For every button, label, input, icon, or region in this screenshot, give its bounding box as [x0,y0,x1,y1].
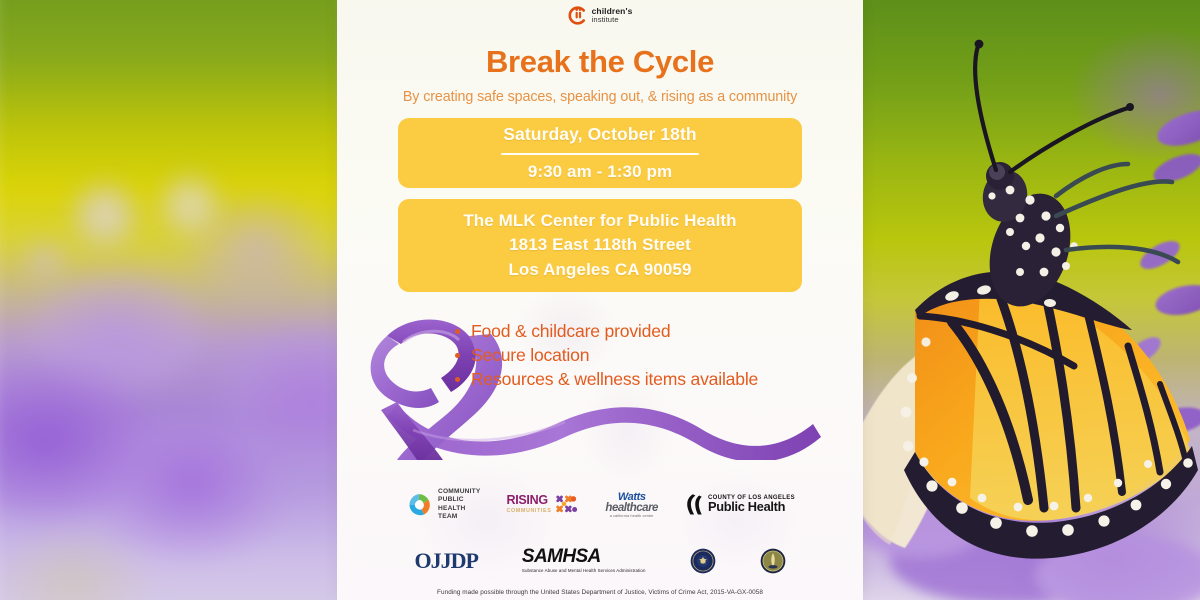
venue-street: 1813 East 118th Street [509,233,691,258]
rising-sub: COMMUNITIES [506,507,551,516]
doj-circular-seal-icon [690,548,716,574]
logo-ojjdp: OJJDP [414,548,477,574]
people-cluster-icon [554,493,579,516]
list-item: Resources & wellness items available [451,368,771,391]
background-left-flower-highlights [0,0,340,600]
benefits-list: Food & childcare provided Secure locatio… [451,320,771,392]
background-right-photo [860,0,1200,600]
cpht-line-3: HEALTH [438,505,480,513]
date-divider [501,153,699,156]
children-institute-logo-icon [568,6,587,25]
rising-name: RISING [506,494,551,507]
watts-tagline: a california health center [605,514,658,518]
lac-name-big: Public Health [708,501,795,514]
brand-line-2: institute [592,16,633,24]
sponsor-logos-row-1: COMMUNITY PUBLIC HEALTH TEAM RISING COMM… [337,488,863,522]
poster-canvas: children's institute Break the Cycle By … [0,0,1200,600]
logo-samhsa: SAMHSA Substance Abuse and Mental Health… [522,547,646,574]
event-date: Saturday, October 18th [503,124,696,145]
list-item: Food & childcare provided [451,320,771,343]
cpht-line-2: PUBLIC [438,496,480,504]
poster-subtitle: By creating safe spaces, speaking out, &… [337,89,863,105]
logo-rising-communities: RISING COMMUNITIES [506,493,579,516]
lac-dph-mark-icon [684,493,703,517]
venue-city: Los Angeles CA 90059 [508,258,691,283]
samhsa-sub: Substance Abuse and Mental Health Servic… [522,568,646,574]
venue-name: The MLK Center for Public Health [463,209,736,234]
monarch-butterfly-icon [860,0,1200,600]
ovc-circular-seal-icon [760,548,786,574]
watts-name-b: healthcare [605,503,658,515]
sponsor-logos-row-2: OJJDP SAMHSA Substance Abuse and Mental … [337,547,863,574]
venue-box: The MLK Center for Public Health 1813 Ea… [398,199,802,292]
cpht-line-4: TEAM [438,513,480,521]
samhsa-name: SAMHSA [522,547,646,566]
logo-county-of-los-angeles-public-health: COUNTY OF LOS ANGELES Public Health [684,493,795,517]
logo-community-public-health-team: COMMUNITY PUBLIC HEALTH TEAM [405,488,480,522]
cpht-line-1: COMMUNITY [438,488,480,496]
watts-name-a: Watts [605,492,658,503]
poster-card: children's institute Break the Cycle By … [337,0,863,600]
brand-lockup: children's institute [337,6,863,25]
poster-title: Break the Cycle [337,44,863,80]
logo-watts-healthcare: Watts healthcare a california health cen… [605,492,658,519]
tri-color-swirl-icon [405,491,433,519]
event-time: 9:30 am - 1:30 pm [528,162,672,182]
funding-footnote: Funding made possible through the United… [337,589,863,596]
list-item: Secure location [451,344,771,367]
date-time-box: Saturday, October 18th 9:30 am - 1:30 pm [398,118,802,188]
